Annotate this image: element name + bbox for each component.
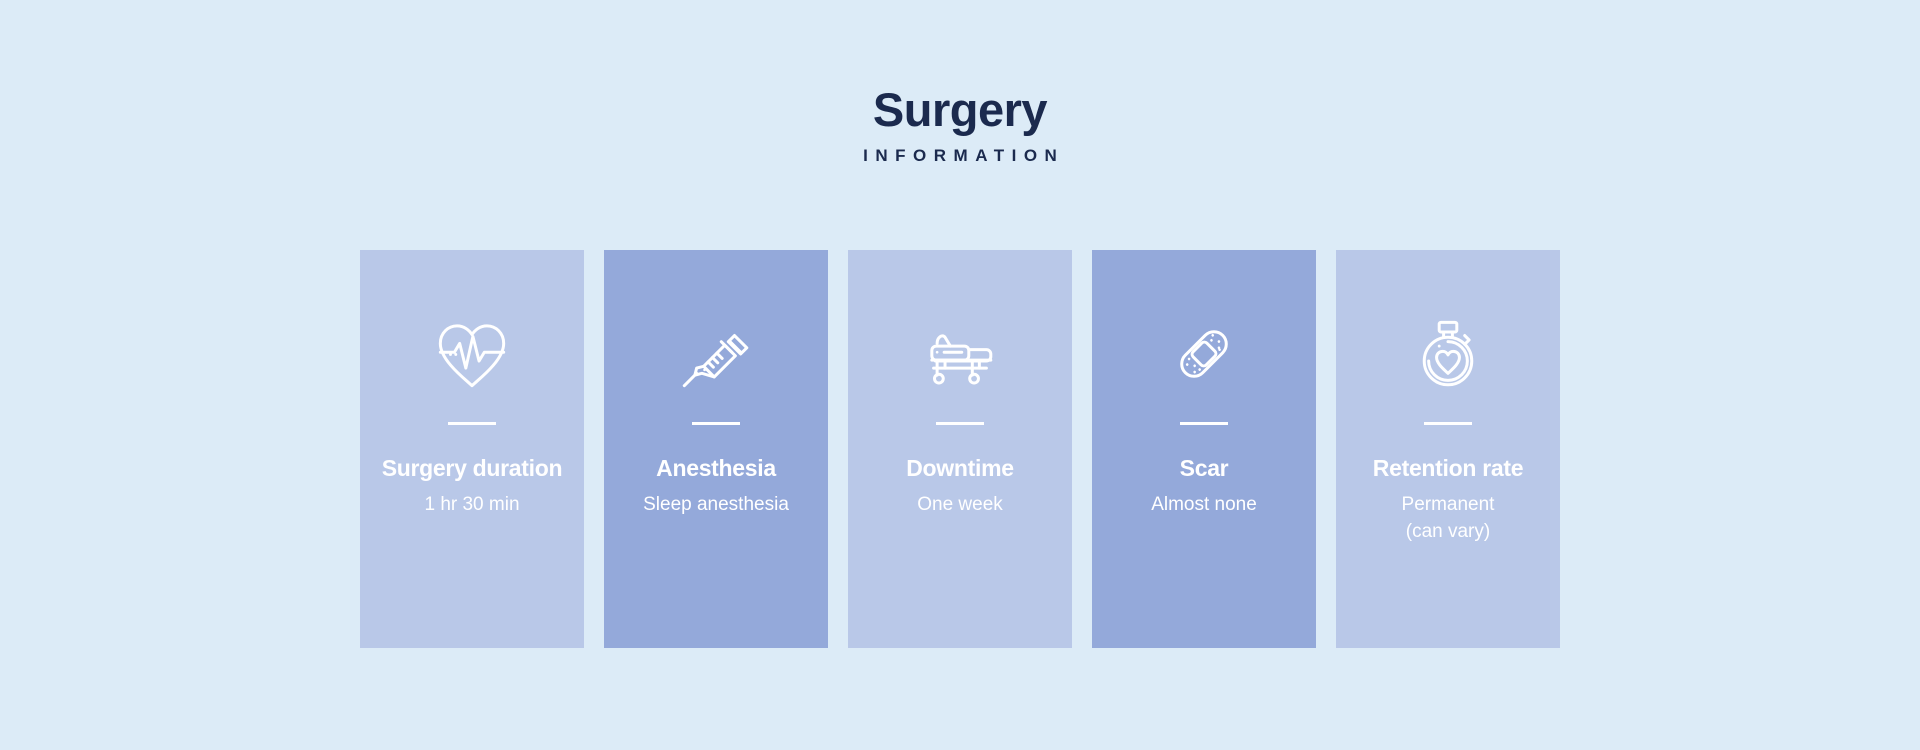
stopwatch-heart-icon <box>1404 310 1492 398</box>
card-subtitle-line1: Almost none <box>1151 494 1257 515</box>
info-card-downtime[interactable]: Downtime One week <box>848 250 1072 648</box>
page-header: Surgery INFORMATION <box>0 84 1920 165</box>
card-subtitle-line2: (can vary) <box>1402 519 1495 545</box>
card-subtitle: Sleep anesthesia <box>643 492 789 518</box>
card-title: Retention rate <box>1373 455 1523 481</box>
card-subtitle: 1 hr 30 min <box>424 492 519 518</box>
info-card-surgery-duration[interactable]: Surgery duration 1 hr 30 min <box>360 250 584 648</box>
card-subtitle-line1: Sleep anesthesia <box>643 494 789 515</box>
card-divider <box>448 422 496 425</box>
card-divider <box>936 422 984 425</box>
hospital-bed-icon <box>916 310 1004 398</box>
card-divider <box>692 422 740 425</box>
bandage-icon <box>1160 310 1248 398</box>
info-card-anesthesia[interactable]: Anesthesia Sleep anesthesia <box>604 250 828 648</box>
page-title: Surgery <box>0 84 1920 137</box>
card-divider <box>1180 422 1228 425</box>
card-title: Downtime <box>906 455 1014 481</box>
card-title: Scar <box>1180 455 1229 481</box>
card-divider <box>1424 422 1472 425</box>
surgery-information-page: Surgery INFORMATION Surgery duration 1 h… <box>0 0 1920 750</box>
heart-pulse-icon <box>428 310 516 398</box>
page-subtitle: INFORMATION <box>0 147 1920 166</box>
card-title: Surgery duration <box>382 455 563 481</box>
info-card-list: Surgery duration 1 hr 30 min <box>360 250 1560 648</box>
info-card-scar[interactable]: Scar Almost none <box>1092 250 1316 648</box>
card-title: Anesthesia <box>656 455 776 481</box>
card-subtitle: One week <box>917 492 1003 518</box>
card-subtitle-line1: One week <box>917 494 1003 515</box>
info-card-retention-rate[interactable]: Retention rate Permanent (can vary) <box>1336 250 1560 648</box>
card-subtitle: Permanent (can vary) <box>1402 492 1495 544</box>
card-subtitle-line1: 1 hr 30 min <box>424 494 519 515</box>
card-subtitle-line1: Permanent <box>1402 494 1495 515</box>
syringe-icon <box>672 310 760 398</box>
card-subtitle: Almost none <box>1151 492 1257 518</box>
